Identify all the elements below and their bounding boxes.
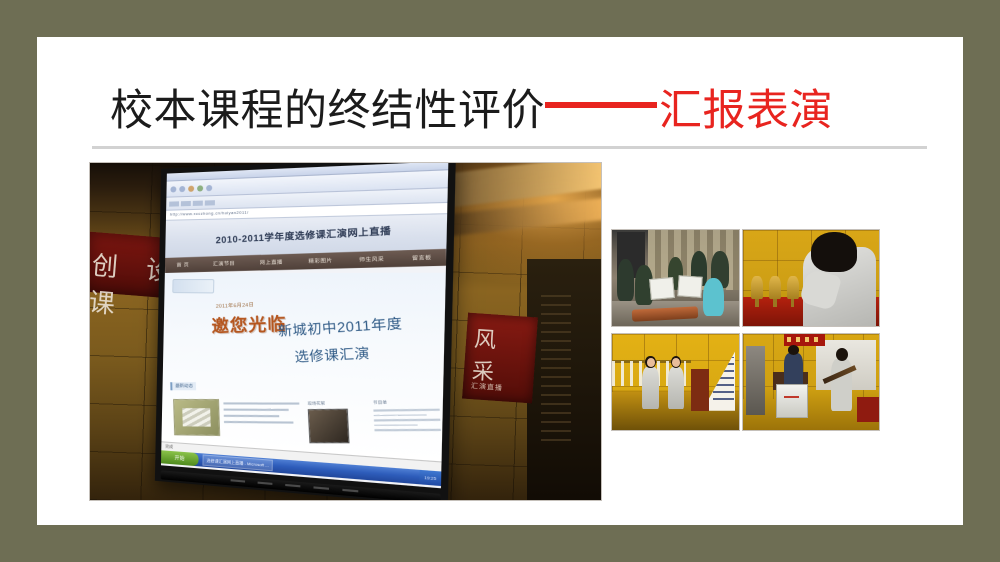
performer-face (672, 358, 680, 366)
goblet-instrument (769, 276, 781, 299)
program-line (374, 419, 440, 421)
news-list-item (223, 402, 299, 404)
news-section-label: 最新动态 (170, 382, 196, 390)
event-title-line1: 新城初中2011年度 (277, 312, 403, 340)
student-performer (642, 367, 659, 409)
browser-link-chip (169, 201, 179, 206)
thumbnail-goblet-scene (743, 230, 879, 326)
thumbnail-photo-stage-duo (612, 334, 739, 430)
gallery-column-image (308, 409, 350, 444)
podium-cart (776, 384, 808, 419)
program-column: 节目单 (373, 398, 441, 434)
title-main-text: 校本课程的终结性评价 (110, 90, 545, 133)
start-button: 开始 (161, 450, 199, 466)
thumbnail-photo-rehearsal (612, 230, 739, 326)
thumbnail-photo-stage-instruments (743, 334, 879, 430)
news-list-item (224, 421, 294, 424)
music-stand-sheet (649, 277, 674, 300)
site-banner-title: 2010-2011学年度选修课汇演网上直播 (181, 221, 432, 248)
program-line (374, 429, 440, 431)
system-tray: 19:25 (419, 470, 441, 486)
performer-face (647, 358, 655, 366)
thumbnail-stage-instruments-scene (743, 334, 879, 430)
browser-link-chip (181, 200, 191, 205)
goblet-instrument (787, 276, 799, 299)
news-list-item (224, 415, 280, 417)
performer-hair (836, 348, 848, 361)
performer-hair (811, 232, 857, 272)
site-nav-item-live: 网上直播 (260, 258, 283, 266)
music-stand-sheet (677, 275, 702, 298)
projector-screen-frame: http://www.xcczhong.cn/huiyan2011/ 2010-… (155, 163, 456, 500)
wall-banner-right-text: 风 采 (471, 321, 537, 389)
thumbnail-stage-duo-scene (612, 334, 739, 430)
site-nav-item-gallery: 精彩图片 (308, 257, 332, 265)
program-column-caption: 节目单 (373, 398, 440, 406)
site-content: 2011年6月24日 邀您光临 新城初中2011年度 选修课汇演 最新动态 (161, 273, 445, 462)
invite-date: 2011年6月24日 (216, 301, 254, 310)
slide-stage: 校本课程的终结性评价汇报表演 创 设 课 风 采 汇演直播 (0, 0, 1000, 562)
student-performer (668, 367, 685, 409)
performer-hair (788, 345, 799, 355)
site-logo (172, 279, 214, 293)
taskbar-window-button: 选修课汇演网上直播 - Microsoft ... (202, 454, 273, 471)
student-figure (617, 259, 634, 301)
news-thumbnail-image (173, 399, 220, 436)
site-nav-item-guestbook: 留言板 (412, 254, 431, 262)
browser-link-chip (205, 200, 215, 205)
site-nav-item-home: 首 页 (177, 261, 189, 268)
invite-headline: 邀您光临 (211, 309, 287, 337)
browser-stop-icon (188, 185, 194, 191)
site-nav-item-programs: 汇演节目 (213, 260, 235, 268)
thumbnail-photo-goblet-music (743, 230, 879, 326)
event-title-line2: 选修课汇演 (294, 342, 371, 366)
side-doorway (527, 259, 601, 500)
program-line (373, 409, 439, 412)
wall-banner-right-subtext: 汇演直播 (471, 381, 504, 393)
slide-canvas: 校本课程的终结性评价汇报表演 创 设 课 风 采 汇演直播 (37, 37, 963, 525)
site-nav-item-people: 师生风采 (359, 255, 384, 263)
news-list-item (224, 409, 289, 411)
gallery-column-caption: 现场花絮 (307, 400, 370, 407)
main-photo-projection-screen: 创 设 课 风 采 汇演直播 (90, 163, 601, 500)
student-figure-teal (703, 278, 723, 316)
title-divider (92, 146, 927, 149)
browser-refresh-icon (197, 185, 203, 191)
title-accent-text: 汇报表演 (659, 90, 833, 133)
browser-home-icon (206, 184, 212, 190)
goblet-instrument (751, 276, 763, 299)
news-list (223, 402, 300, 428)
page-title: 校本课程的终结性评价汇报表演 (110, 77, 940, 145)
stage-table-red (857, 397, 879, 422)
wooden-chair (691, 369, 709, 411)
title-dash-rule (545, 102, 657, 108)
program-line (374, 414, 427, 416)
gallery-column: 现场花絮 (307, 400, 372, 444)
browser-forward-icon (179, 185, 185, 191)
thumbnail-rehearsal-scene (612, 230, 739, 326)
program-line (374, 424, 417, 426)
browser-back-icon (170, 186, 176, 192)
projected-browser-window: http://www.xcczhong.cn/huiyan2011/ 2010-… (161, 163, 448, 488)
wall-banner-right: 风 采 汇演直播 (462, 313, 538, 404)
browser-link-chip (193, 200, 203, 205)
side-staircase (746, 346, 765, 415)
